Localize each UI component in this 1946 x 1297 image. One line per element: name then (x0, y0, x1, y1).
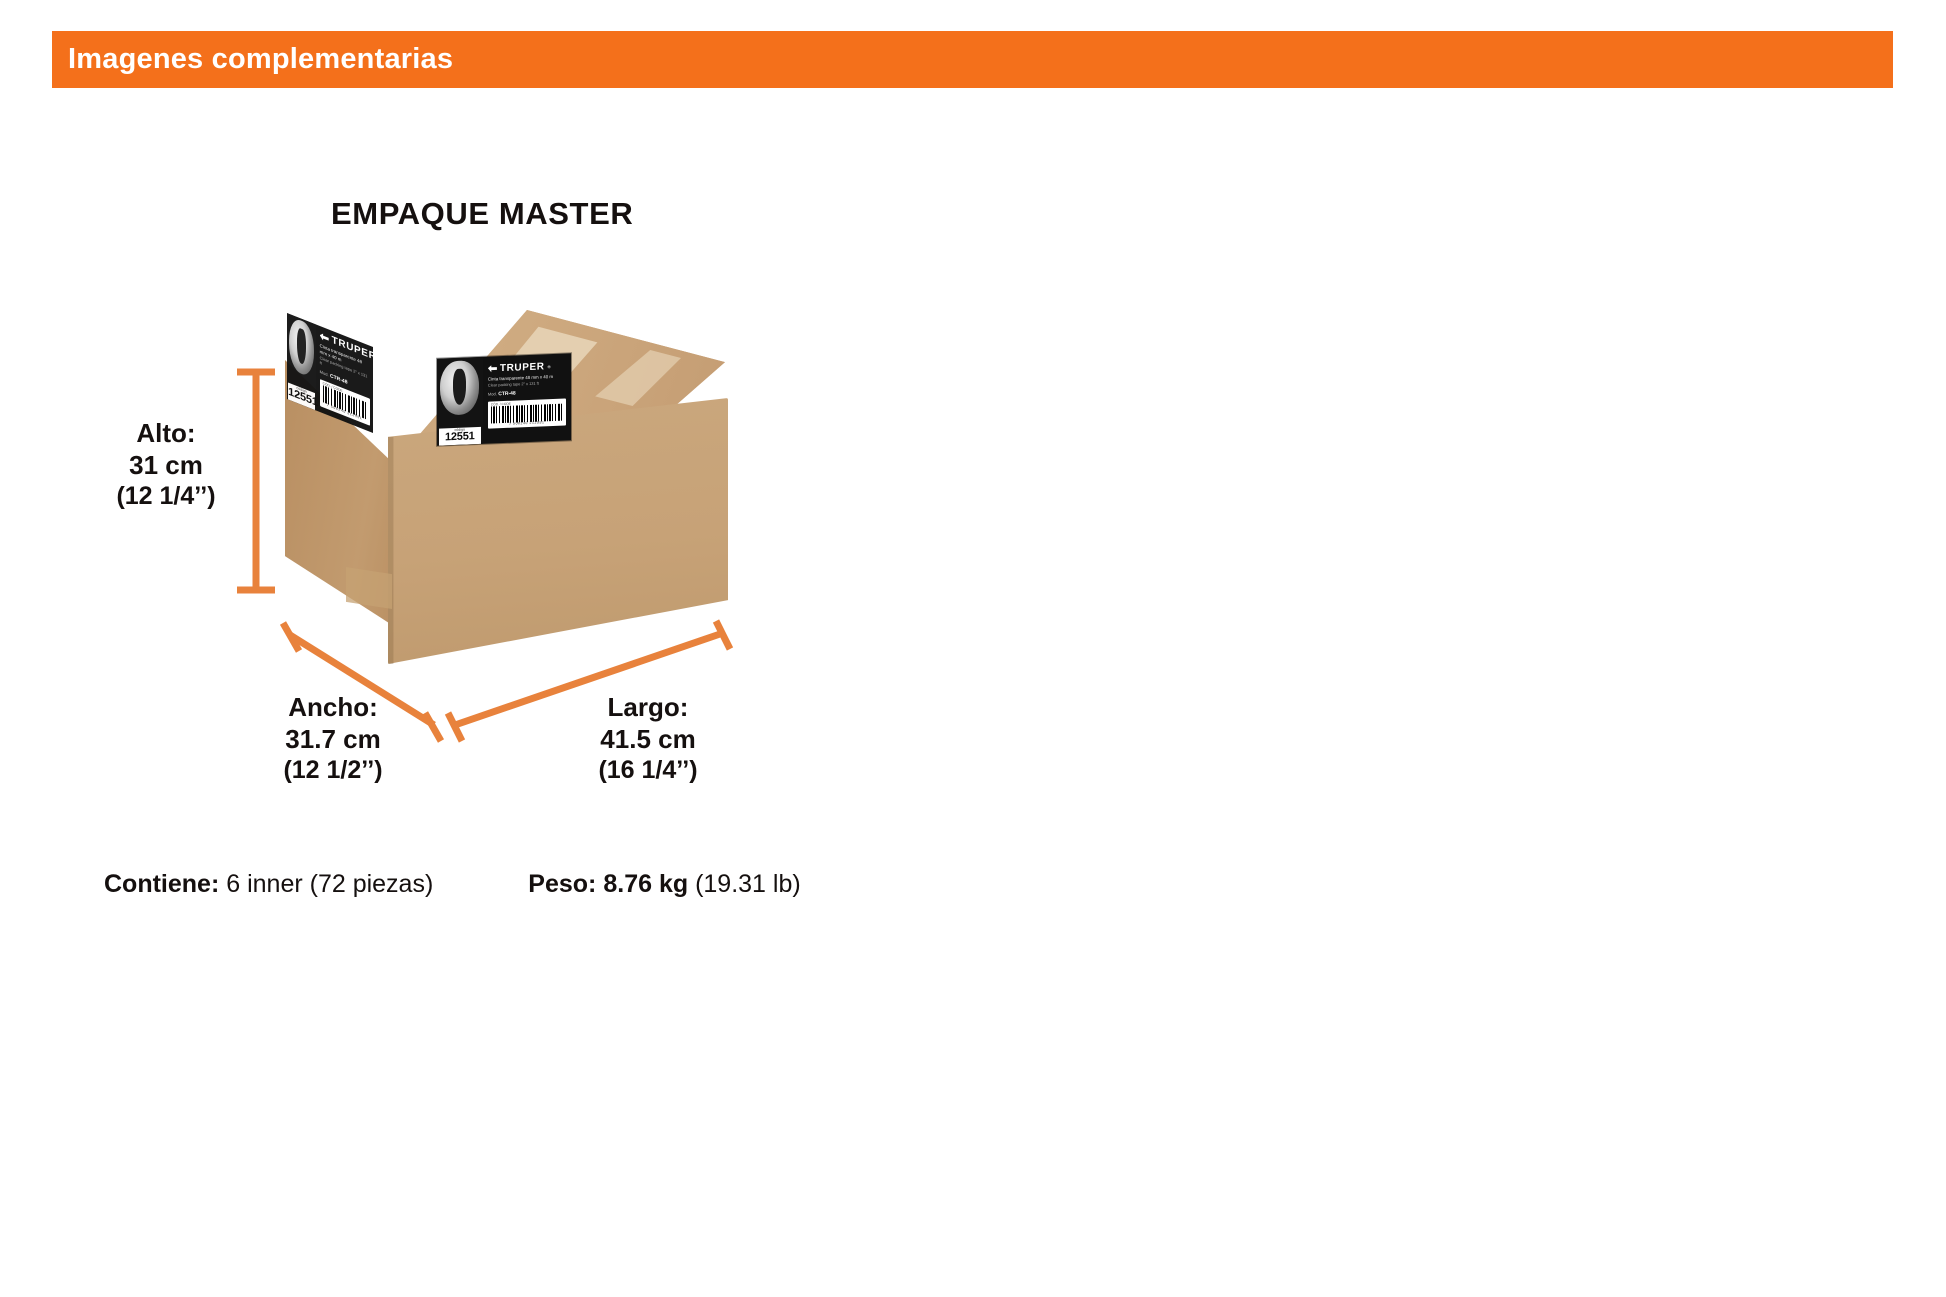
carton-side-patch (346, 567, 392, 609)
product-label-front-trademark: ® (548, 364, 552, 369)
product-label-front-sku-prefix: Mod. (488, 391, 497, 396)
product-label-front-brand-text: TRUPER (500, 361, 545, 374)
product-label-front-sku-value: CTR-48 (498, 391, 516, 398)
section-header-title: Imagenes complementarias (52, 43, 453, 76)
dimension-label-ancho: Ancho: 31.7 cm (12 1/2’’) (238, 692, 428, 786)
dimension-label-largo-imperial: (16 1/4’’) (553, 755, 743, 786)
product-label-front-info-column: TRUPER ® Cinta transparente 48 mm x 40 m… (483, 353, 571, 444)
page-title: EMPAQUE MASTER (331, 196, 633, 232)
product-label-front-code-block: código 12551 (439, 427, 481, 446)
product-label-front-barcode-block: CÓD. / CODE 7 506240 212551 (488, 399, 566, 429)
dimension-label-alto-metric: 31 cm (96, 450, 236, 482)
dimension-label-largo-title: Largo: (553, 692, 743, 724)
product-label-side-emblem-column: código 12551 (287, 313, 316, 411)
carton-info-row: Contiene: 6 inner (72 piezas) Peso: 8.76… (104, 870, 801, 899)
dimension-label-ancho-imperial: (12 1/2’’) (238, 755, 428, 786)
carton-weight-imperial: (19.31 lb) (695, 870, 801, 898)
product-label-front-emblem-column: código 12551 (437, 357, 483, 446)
section-header-bar: Imagenes complementarias (52, 31, 1893, 88)
dimension-label-alto-imperial: (12 1/4’’) (96, 481, 236, 512)
dimension-label-alto: Alto: 31 cm (12 1/4’’) (96, 418, 236, 512)
master-carton-illustration: código 12551 TRUPER ® Cinta transparente… (285, 310, 745, 675)
product-label-front-sku: Mod. CTR-48 (488, 389, 566, 398)
carton-contents-value: 6 inner (72 piezas) (226, 870, 433, 898)
dimension-label-ancho-metric: 31.7 cm (238, 724, 428, 756)
truper-shield-emblem-icon (289, 316, 314, 379)
carton-contents: Contiene: 6 inner (72 piezas) (104, 870, 433, 899)
dimension-label-ancho-title: Ancho: (238, 692, 428, 724)
dimension-line-alto (237, 372, 275, 590)
product-label-front-description-sub: Clear packing tape 2" x 131 ft (488, 381, 566, 389)
truper-arrow-icon (320, 332, 329, 343)
page-root: Imagenes complementarias EMPAQUE MASTER … (0, 0, 1946, 1297)
truper-arrow-icon (488, 365, 497, 372)
carton-weight-value: 8.76 kg (603, 870, 688, 898)
carton-weight: Peso: 8.76 kg (19.31 lb) (528, 870, 800, 899)
product-label-side-sku-prefix: Mod. (320, 369, 329, 378)
dimension-label-largo-metric: 41.5 cm (553, 724, 743, 756)
product-label-front: código 12551 TRUPER ® Cinta transparente… (437, 353, 571, 445)
truper-shield-emblem-icon (440, 360, 479, 416)
carton-weight-label: Peso: (528, 870, 596, 898)
product-label-front-brand: TRUPER ® (488, 360, 566, 374)
carton-contents-label: Contiene: (104, 870, 219, 898)
dimension-label-alto-title: Alto: (96, 418, 236, 450)
dimension-label-largo: Largo: 41.5 cm (16 1/4’’) (553, 692, 743, 786)
product-label-front-code: 12551 (439, 431, 481, 444)
